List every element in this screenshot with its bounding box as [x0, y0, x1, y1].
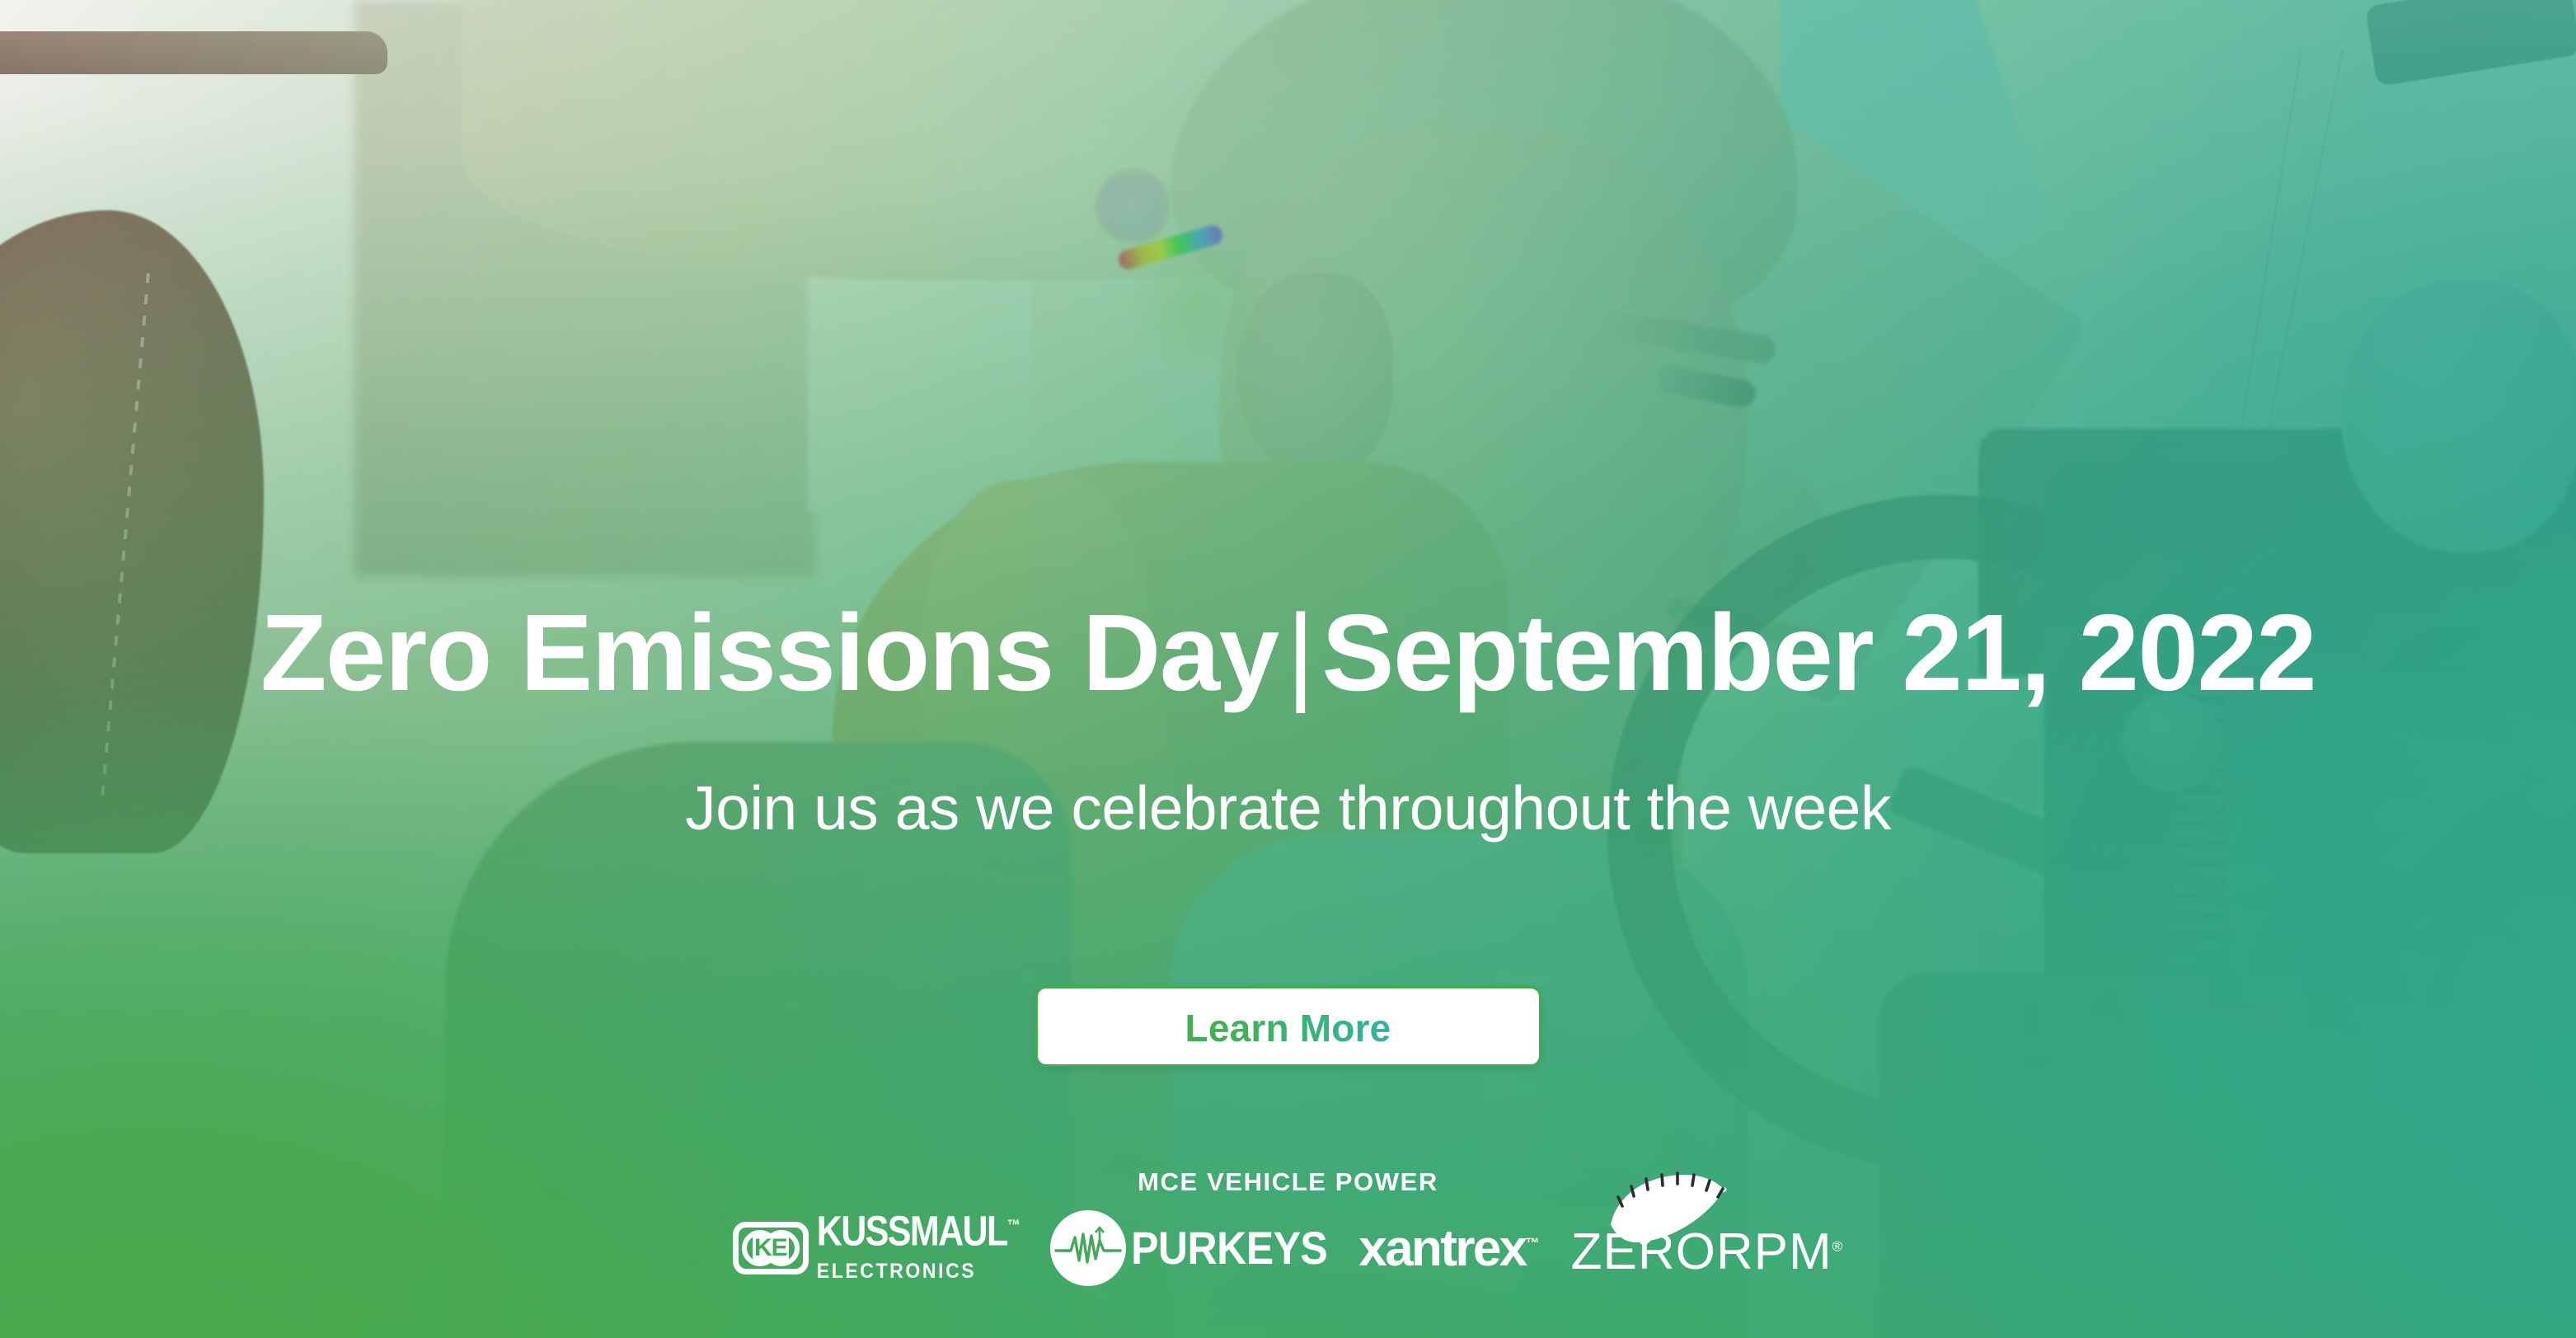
kussmaul-ke-monogram-icon: KE — [733, 1222, 809, 1275]
learn-more-button[interactable]: Learn More — [1035, 986, 1541, 1067]
purkeys-waveform-circle-icon — [1050, 1210, 1126, 1286]
kussmaul-line2: ELECTRONICS — [817, 1261, 1019, 1281]
cta-container: Learn More — [0, 986, 2576, 1067]
partner-group-label: MCE VEHICLE POWER — [0, 1167, 2576, 1197]
banner-subheadline: Join us as we celebrate throughout the w… — [0, 773, 2576, 843]
xantrex-tm-mark: ™ — [1526, 1235, 1540, 1251]
kussmaul-line1: KUSSMAUL™ — [817, 1211, 1019, 1253]
headline-title: Zero Emissions Day — [260, 592, 1279, 713]
headline-date: September 21, 2022 — [1321, 592, 2316, 713]
logo-kussmaul-electronics[interactable]: KE KUSSMAUL™ ELECTRONICS — [733, 1218, 1019, 1279]
zerorpm-wordmark: ZERORPM® — [1571, 1223, 1844, 1281]
purkeys-wordmark: PURKEYS — [1131, 1222, 1327, 1275]
banner-headline: Zero Emissions Day|September 21, 2022 — [0, 595, 2576, 711]
logo-purkeys[interactable]: PURKEYS — [1050, 1210, 1327, 1286]
partner-logo-row: KE KUSSMAUL™ ELECTRONICS PURKEYS — [0, 1210, 2576, 1286]
ke-monogram-text: KE — [753, 1234, 789, 1262]
zerorpm-registered-mark: ® — [1832, 1238, 1844, 1254]
zerorpm-wordmark-text: ZERORPM — [1571, 1223, 1832, 1280]
learn-more-label: Learn More — [1185, 1007, 1391, 1049]
logo-zerorpm[interactable]: ZERORPM® — [1571, 1216, 1844, 1281]
zero-emissions-day-banner: Zero Emissions Day|September 21, 2022 Jo… — [0, 0, 2576, 1338]
xantrex-wordmark: xantrex™ — [1358, 1219, 1539, 1278]
kussmaul-wordmark: KUSSMAUL™ ELECTRONICS — [817, 1218, 1019, 1279]
xantrex-wordmark-text: xantrex — [1358, 1220, 1525, 1277]
kussmaul-tm-mark: ™ — [1007, 1218, 1019, 1234]
kussmaul-line1-text: KUSSMAUL — [817, 1208, 1007, 1255]
logo-xantrex[interactable]: xantrex™ — [1358, 1219, 1539, 1278]
headline-divider: | — [1279, 592, 1322, 713]
banner-content: Zero Emissions Day|September 21, 2022 Jo… — [0, 0, 2576, 1338]
